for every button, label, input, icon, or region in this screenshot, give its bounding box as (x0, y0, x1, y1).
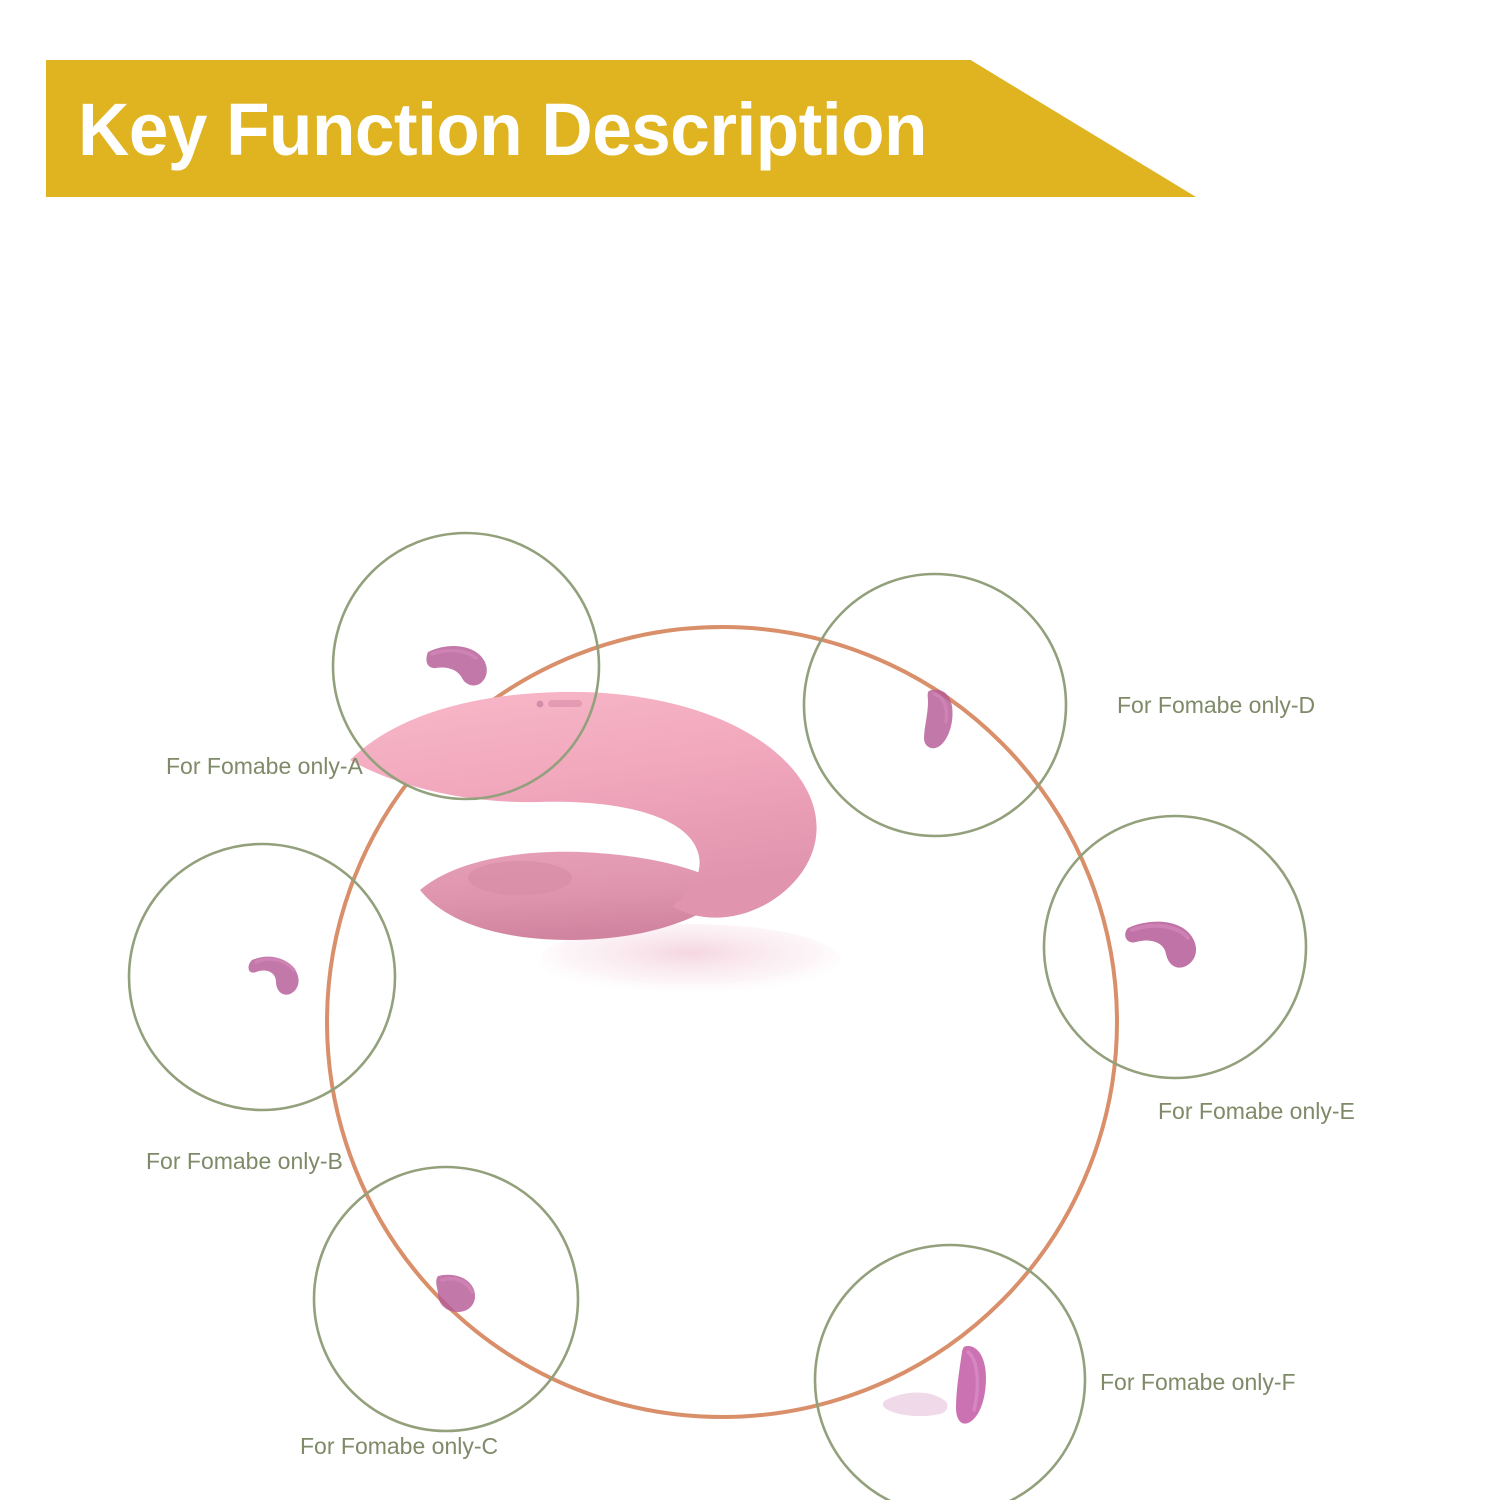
callout-circle-d[interactable] (804, 574, 1066, 838)
device-detail-e (1125, 922, 1196, 968)
callout-circle-b[interactable] (129, 844, 395, 1110)
callout-label-a: For Fomabe only-A (166, 752, 363, 780)
device-detail-b (249, 957, 299, 995)
infographic-page: Key Function Description (0, 0, 1500, 1500)
device-detail-d (924, 690, 953, 749)
page-title: Key Function Description (78, 84, 927, 176)
callout-label-e: For Fomabe only-E (1158, 1097, 1355, 1125)
callout-circle-c[interactable] (314, 1167, 578, 1432)
callout-circle-a[interactable] (333, 533, 599, 800)
device-detail-f (883, 1346, 986, 1424)
callout-circles-group (0, 200, 1500, 1500)
callout-label-d: For Fomabe only-D (1117, 691, 1315, 719)
callout-circle-e[interactable] (1044, 816, 1306, 1078)
callout-circle-f[interactable] (815, 1240, 1085, 1500)
diagram-stage: For Fomabe only-A For Fomabe only-B For … (0, 200, 1500, 1500)
callout-label-b: For Fomabe only-B (146, 1147, 343, 1175)
device-detail-a (426, 646, 486, 685)
device-detail-c (436, 1275, 475, 1312)
callout-label-c: For Fomabe only-C (300, 1432, 498, 1460)
callout-label-f: For Fomabe only-F (1100, 1368, 1296, 1396)
